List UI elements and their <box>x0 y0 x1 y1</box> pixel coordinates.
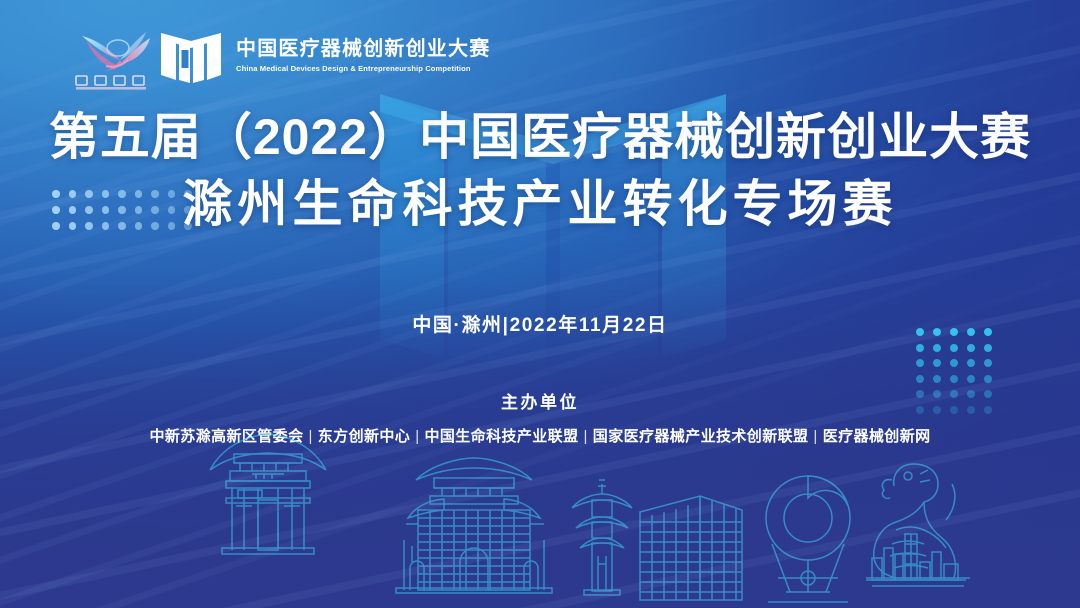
office-tower-icon <box>640 496 742 600</box>
ring-sculpture-icon <box>766 476 850 602</box>
innovation-china-logo <box>62 26 174 92</box>
grid-dot <box>967 344 975 352</box>
grid-dot <box>916 375 924 383</box>
grid-dot <box>984 359 992 367</box>
chinese-pavilion-icon <box>210 434 326 554</box>
city-gate-tower-icon <box>396 458 552 593</box>
grid-dot <box>933 344 941 352</box>
organizer-label: 主办单位 <box>0 388 1080 413</box>
pagoda-icon <box>572 480 632 595</box>
title-line-1: 第五届（2022）中国医疗器械创新创业大赛 <box>0 108 1080 166</box>
event-location-date: 中国·滁州|2022年11月22日 <box>0 310 1080 337</box>
title-block: 第五届（2022）中国医疗器械创新创业大赛 滁州生命科技产业转化专场赛 <box>0 108 1080 237</box>
event-poster: 中国医疗器械创新创业大赛 China Medical Devices Desig… <box>0 0 1080 608</box>
grid-dot <box>967 375 975 383</box>
city-buildings-icon <box>866 534 966 580</box>
title-line-2: 滁州生命科技产业转化专场赛 <box>0 172 1080 237</box>
innovation-china-wordmark <box>76 76 146 90</box>
grid-dot <box>950 359 958 367</box>
competition-logo-en: China Medical Devices Design & Entrepren… <box>236 64 490 73</box>
grid-dot <box>950 344 958 352</box>
grid-dot <box>933 359 941 367</box>
grid-dot <box>933 375 941 383</box>
grid-dot <box>950 375 958 383</box>
poster-header: 中国医疗器械创新创业大赛 China Medical Devices Desig… <box>0 0 1080 100</box>
competition-logo-cn: 中国医疗器械创新创业大赛 <box>236 39 490 60</box>
grid-dot <box>916 359 924 367</box>
grid-dot <box>916 344 924 352</box>
competition-logo: 中国医疗器械创新创业大赛 China Medical Devices Desig… <box>160 28 490 84</box>
grid-dot <box>984 344 992 352</box>
open-door-mark-icon <box>160 28 222 84</box>
grid-dot <box>984 375 992 383</box>
phoenix-bird-icon <box>82 32 150 72</box>
skyline-illustration <box>0 418 1080 608</box>
grid-dot <box>967 359 975 367</box>
